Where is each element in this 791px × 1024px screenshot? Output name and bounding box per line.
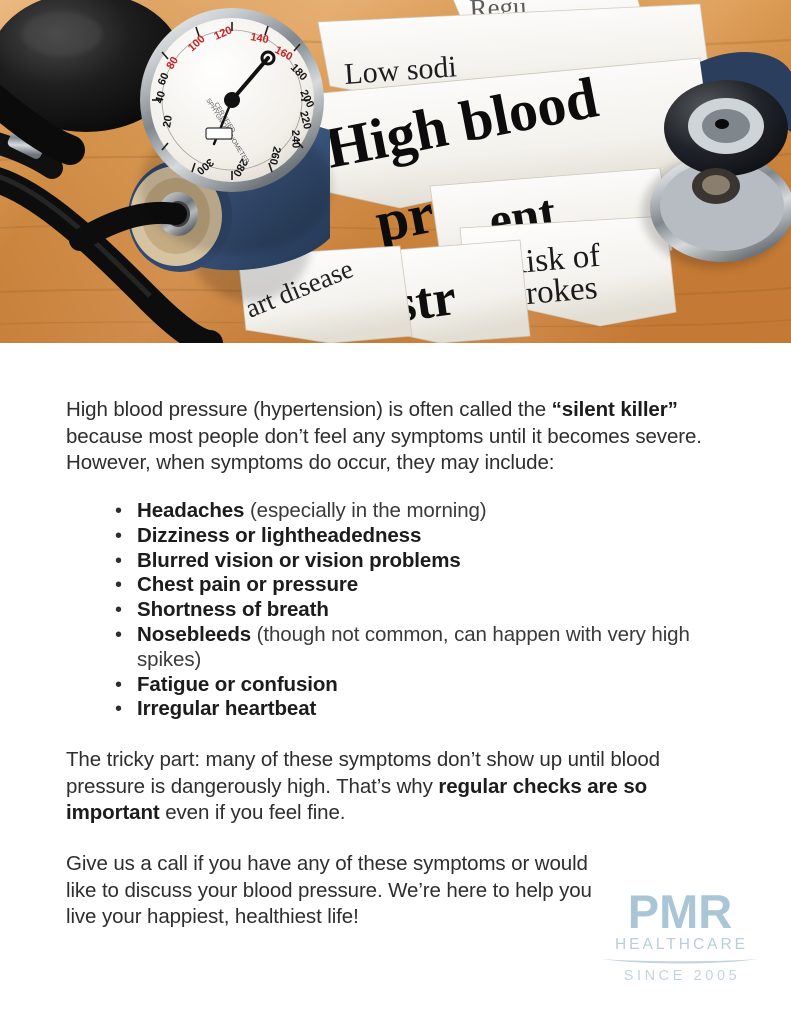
list-item: •Headaches (especially in the morning) <box>115 499 715 524</box>
tricky-after: even if you feel fine. <box>160 801 346 824</box>
bullet-icon: • <box>115 573 122 598</box>
bullet-icon: • <box>115 623 122 648</box>
bullet-icon: • <box>115 598 122 623</box>
gauge-window <box>206 128 232 139</box>
call-to-action-paragraph: Give us a call if you have any of these … <box>66 851 596 931</box>
bullet-icon: • <box>115 499 122 524</box>
symptom-label: Blurred vision or vision problems <box>137 549 461 572</box>
symptom-label: Fatigue or confusion <box>137 673 338 696</box>
intro-highlight: “silent killer” <box>552 398 678 421</box>
symptom-list: •Headaches (especially in the morning) •… <box>115 499 715 722</box>
symptom-label: Headaches <box>137 499 244 522</box>
list-item: •Nosebleeds (though not common, can happ… <box>115 623 715 673</box>
logo-divider-swoosh <box>600 957 760 966</box>
pmr-healthcare-logo: PMR HEALTHCARE SINCE 2005 <box>600 888 760 985</box>
bullet-icon: • <box>115 697 122 722</box>
list-item: •Irregular heartbeat <box>115 697 715 722</box>
intro-after: because most people don’t feel any sympt… <box>66 425 702 475</box>
list-item: •Chest pain or pressure <box>115 573 715 598</box>
hero-illustration: Regu checks Low sodi diet High blood pre… <box>0 0 791 343</box>
logo-subtitle: HEALTHCARE <box>600 936 760 954</box>
symptom-label: Chest pain or pressure <box>137 573 358 596</box>
pressure-gauge: 80 100 120 140 160 20 40 60 180 200 220 … <box>140 8 332 254</box>
symptom-label: Nosebleeds <box>137 623 251 646</box>
bullet-icon: • <box>115 549 122 574</box>
logo-since-text: SINCE 2005 <box>600 968 760 985</box>
intro-before: High blood pressure (hypertension) is of… <box>66 398 552 421</box>
logo-divider <box>600 957 760 966</box>
svg-text:20: 20 <box>161 114 175 128</box>
hero-photo: Regu checks Low sodi diet High blood pre… <box>0 0 791 343</box>
symptom-label: Irregular heartbeat <box>137 697 316 720</box>
symptom-note: (especially in the morning) <box>244 499 486 522</box>
svg-text:240: 240 <box>289 130 302 149</box>
tricky-part-paragraph: The tricky part: many of these symptoms … <box>66 747 718 827</box>
intro-paragraph: High blood pressure (hypertension) is of… <box>66 397 728 477</box>
bullet-icon: • <box>115 673 122 698</box>
bullet-icon: • <box>115 524 122 549</box>
symptom-label: Dizziness or lightheadedness <box>137 524 421 547</box>
symptom-label: Shortness of breath <box>137 598 329 621</box>
list-item: •Dizziness or lightheadedness <box>115 524 715 549</box>
list-item: •Shortness of breath <box>115 598 715 623</box>
logo-wordmark: PMR <box>600 888 760 935</box>
list-item: •Fatigue or confusion <box>115 673 715 698</box>
list-item: •Blurred vision or vision problems <box>115 549 715 574</box>
